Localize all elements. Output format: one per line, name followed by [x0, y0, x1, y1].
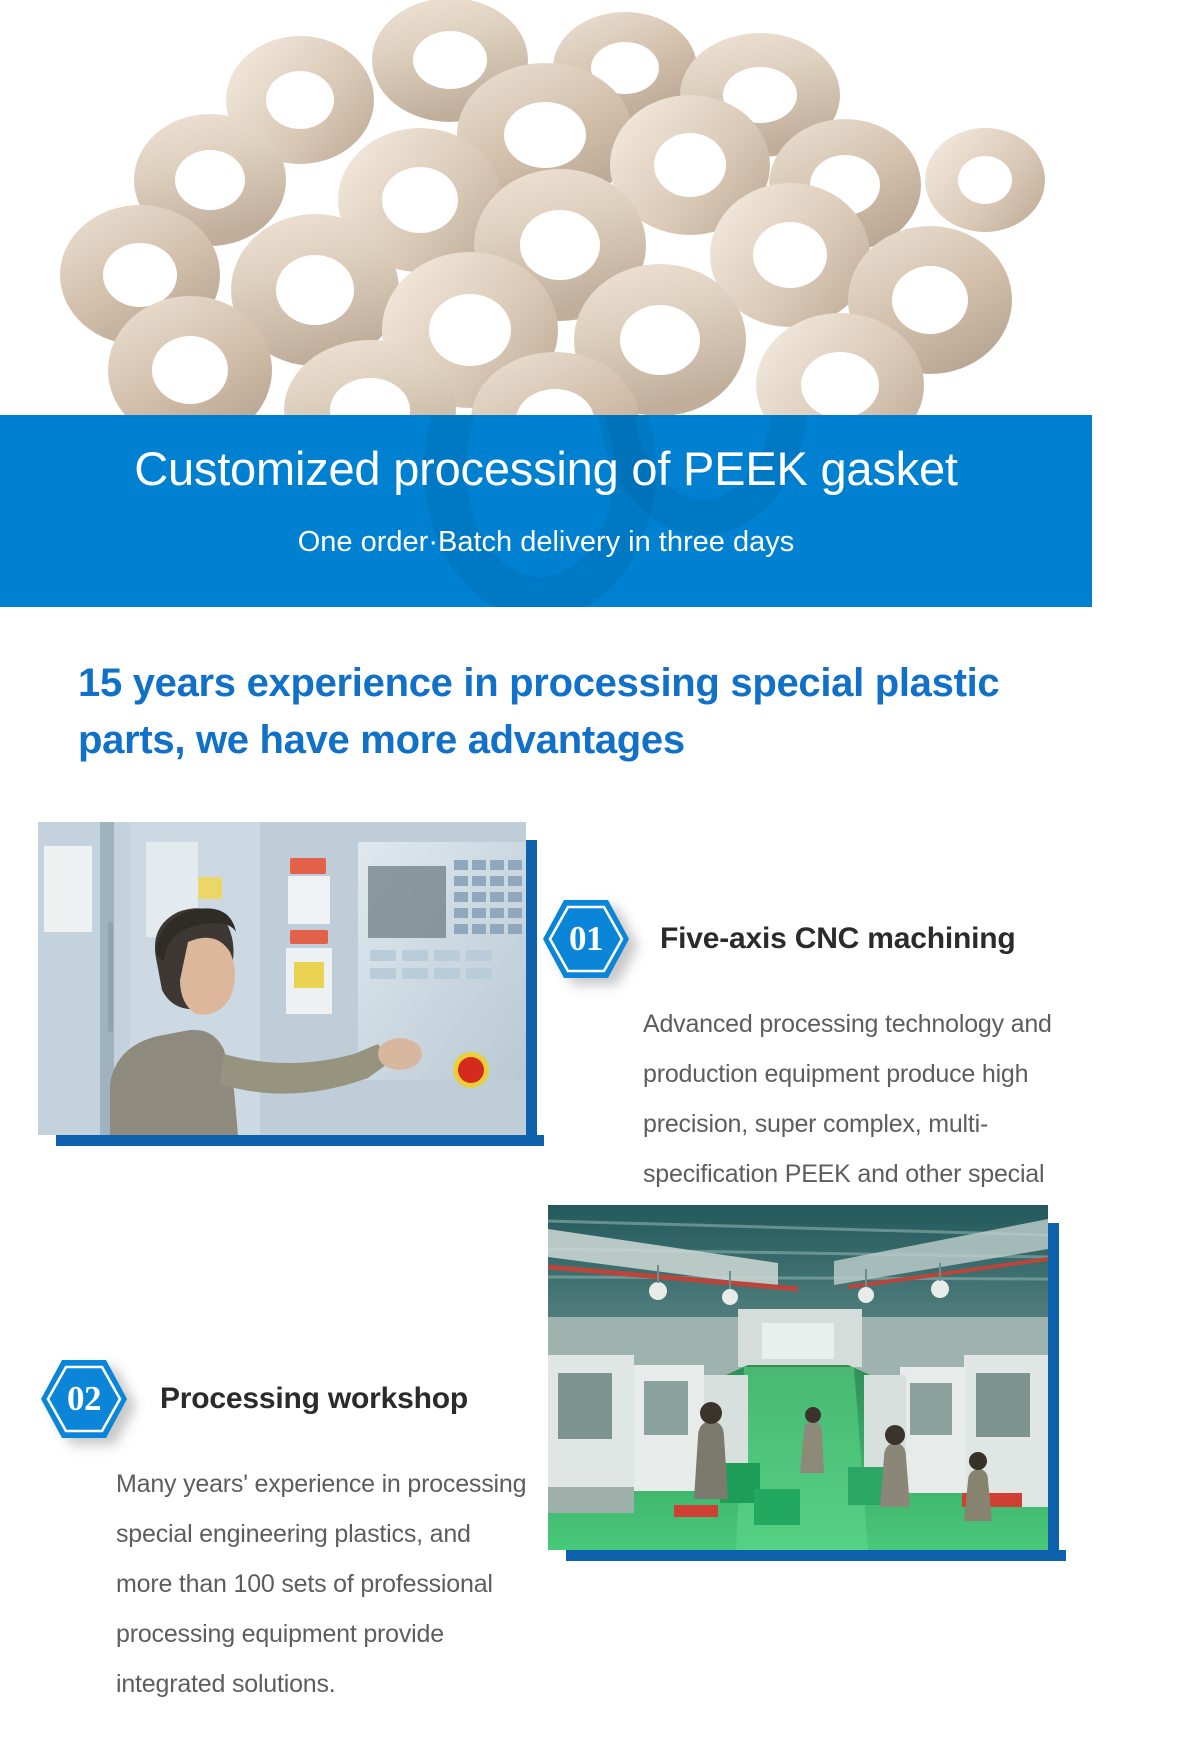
- badge-number-01: 01: [540, 897, 632, 981]
- feature-image-frame-02: [548, 1205, 1048, 1550]
- workshop-illustration: [548, 1205, 1048, 1550]
- workshop-photo: [548, 1205, 1048, 1550]
- frame-accent-right: [1048, 1223, 1059, 1560]
- feature-row-02: 02 Processing workshop Many years' exper…: [0, 1205, 1092, 1748]
- cnc-operator-photo: [38, 822, 526, 1135]
- feature-text-01: 01 Five-axis CNC machining Advanced proc…: [540, 897, 1068, 1249]
- hero-product-image: [0, 0, 1092, 470]
- feature-text-02: 02 Processing workshop Many years' exper…: [38, 1357, 528, 1709]
- feature-image-frame-01: [38, 822, 526, 1135]
- product-detail-page: Customized processing of PEEK gasket One…: [0, 0, 1200, 1748]
- cnc-machine-illustration: [38, 822, 526, 1135]
- feature-header-01: 01 Five-axis CNC machining: [540, 897, 1068, 981]
- hexagon-badge-02: 02: [38, 1357, 130, 1441]
- banner-title: Customized processing of PEEK gasket: [0, 443, 1092, 495]
- banner-subtitle: One order·Batch delivery in three days: [0, 525, 1092, 560]
- feature-title-01: Five-axis CNC machining: [660, 922, 1016, 956]
- hero-banner: Customized processing of PEEK gasket One…: [0, 415, 1092, 607]
- badge-number-02: 02: [38, 1357, 130, 1441]
- feature-body-02: Many years' experience in processing spe…: [116, 1459, 528, 1709]
- feature-row-01: 01 Five-axis CNC machining Advanced proc…: [0, 822, 1092, 1162]
- feature-title-02: Processing workshop: [160, 1382, 468, 1416]
- frame-accent-bottom: [56, 1135, 544, 1146]
- section-headline: 15 years experience in processing specia…: [78, 655, 1068, 769]
- peek-gaskets-illustration: [0, 0, 1092, 470]
- feature-header-02: 02 Processing workshop: [38, 1357, 528, 1441]
- frame-accent-bottom: [566, 1550, 1066, 1561]
- hexagon-badge-01: 01: [540, 897, 632, 981]
- frame-accent-right: [526, 840, 537, 1145]
